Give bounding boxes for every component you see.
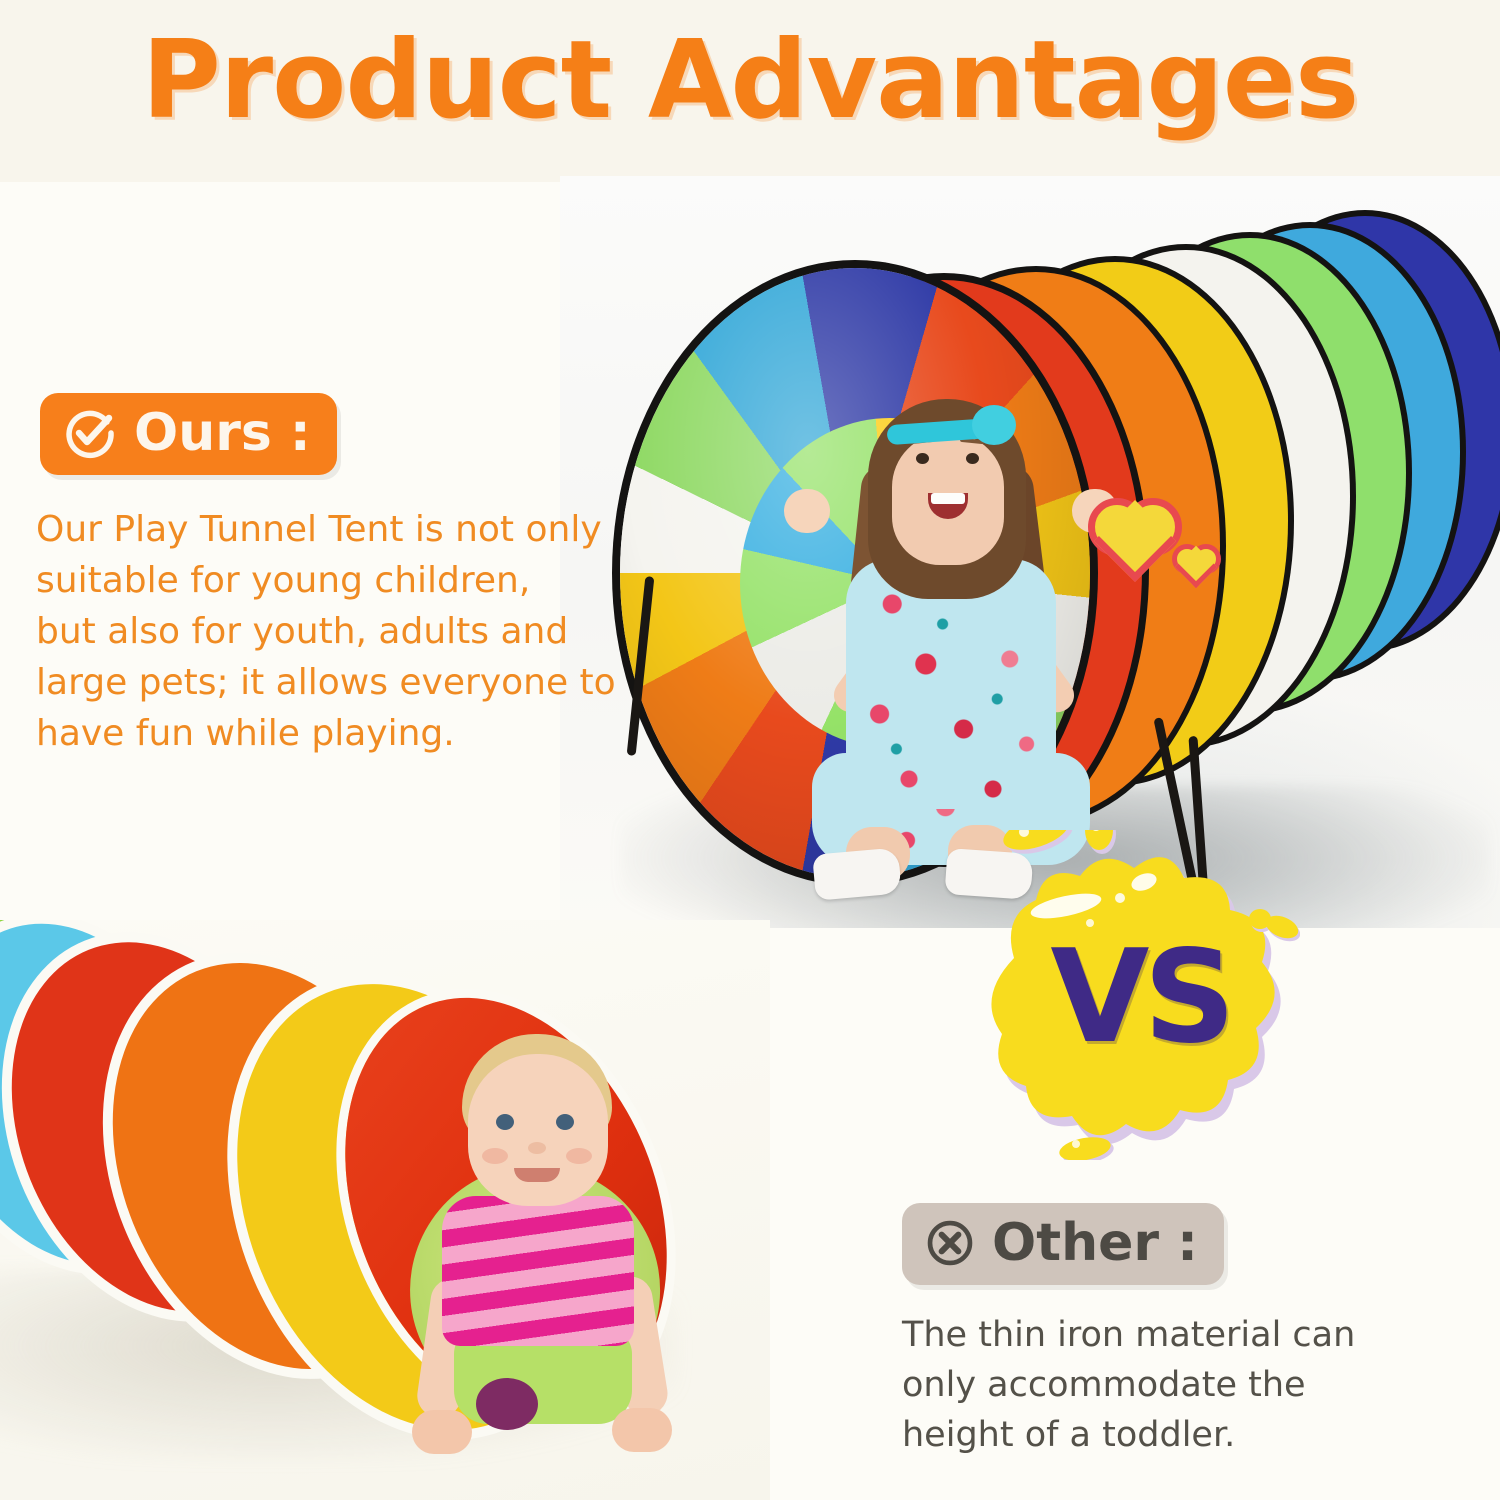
product-advantages-infographic: Product Advantages xyxy=(0,0,1500,1500)
girl-eye-left xyxy=(916,453,929,464)
copy-ours-line: but also for youth, adults and xyxy=(36,606,632,657)
child-baby-figure xyxy=(390,1030,720,1500)
baby-eye-left xyxy=(496,1114,514,1130)
badge-other-label: Other : xyxy=(992,1215,1198,1271)
baby-striped-shirt xyxy=(442,1196,634,1346)
hearts-doodle xyxy=(1088,494,1218,590)
x-circle-icon xyxy=(924,1217,976,1269)
baby-cheek-left xyxy=(482,1148,508,1164)
girl-hand-left xyxy=(784,489,830,533)
short-tunnel-barrel xyxy=(0,920,770,1500)
copy-ours-line: Our Play Tunnel Tent is not only xyxy=(36,504,632,555)
heart-icon-small xyxy=(1172,542,1222,586)
copy-other-line: only accommodate the xyxy=(902,1360,1372,1410)
check-circle-icon xyxy=(62,405,118,461)
badge-ours[interactable]: Ours : xyxy=(40,393,337,475)
girl-teeth xyxy=(931,493,965,504)
copy-other: The thin iron material can only accommod… xyxy=(902,1310,1372,1460)
baby-cheek-right xyxy=(566,1148,592,1164)
heart-icon-large xyxy=(1088,494,1184,578)
photo-other-play-tunnel xyxy=(0,920,770,1500)
badge-ours-label: Ours : xyxy=(134,405,311,461)
copy-ours-line: have fun while playing. xyxy=(36,708,632,759)
badge-other[interactable]: Other : xyxy=(902,1203,1224,1285)
girl-headband-flower xyxy=(972,405,1016,445)
copy-ours: Our Play Tunnel Tent is not only suitabl… xyxy=(36,504,632,759)
baby-face xyxy=(468,1054,608,1206)
child-girl-figure xyxy=(750,381,1150,901)
copy-ours-line: suitable for young children, xyxy=(36,555,632,606)
photo-ours-play-tunnel xyxy=(560,176,1500,928)
girl-eye-right xyxy=(966,453,979,464)
copy-other-line: The thin iron material can xyxy=(902,1310,1372,1360)
copy-other-line: height of a toddler. xyxy=(902,1410,1372,1460)
vs-label: VS xyxy=(980,830,1300,1160)
girl-shoe-left xyxy=(812,847,902,900)
baby-nose xyxy=(528,1142,546,1154)
baby-hand-right xyxy=(612,1408,672,1452)
baby-eye-right xyxy=(556,1114,574,1130)
page-title: Product Advantages xyxy=(0,22,1500,140)
copy-ours-line: large pets; it allows everyone to xyxy=(36,657,632,708)
vs-badge: VS xyxy=(980,830,1300,1160)
baby-hand-left xyxy=(412,1410,472,1454)
baby-mouth xyxy=(514,1168,560,1182)
baby-knee-patch xyxy=(476,1378,538,1430)
